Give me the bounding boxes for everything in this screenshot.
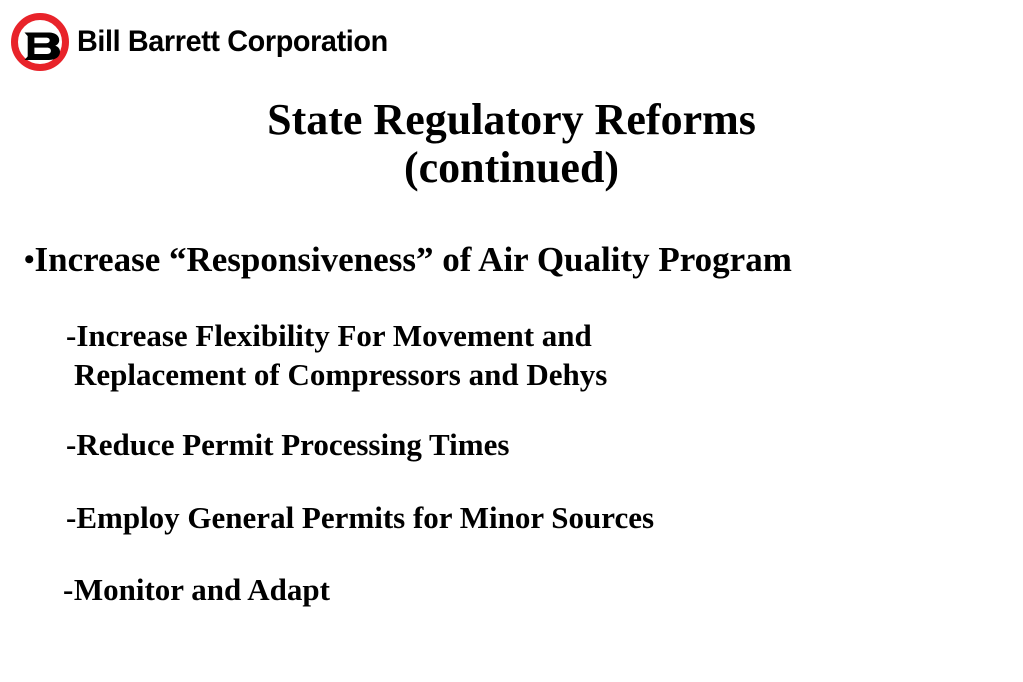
slide-body: •Increase “Responsiveness” of Air Qualit… <box>0 240 1023 609</box>
dash-marker-icon: - <box>63 572 74 607</box>
sub-bullet-list: -Increase Flexibility For Movement andRe… <box>0 317 1023 609</box>
dash-marker-icon: - <box>66 427 76 462</box>
dash-marker-icon: - <box>66 500 76 535</box>
slide-canvas: Bill Barrett Corporation State Regulator… <box>0 0 1023 682</box>
bullet-dot-icon: • <box>24 243 35 276</box>
sub-bullet-item-2: -Reduce Permit Processing Times <box>0 426 1023 464</box>
slide-title-line-2: (continued) <box>0 146 1023 190</box>
bullet-item-primary: •Increase “Responsiveness” of Air Qualit… <box>0 240 1023 279</box>
slide-title: State Regulatory Reforms (continued) <box>0 98 1023 190</box>
dash-marker-icon: - <box>66 318 76 353</box>
sub-bullet-item-1-continuation: Replacement of Compressors and Dehys <box>66 356 1023 394</box>
sub-bullet-item-2-text: Reduce Permit Processing Times <box>76 427 509 462</box>
sub-bullet-item-1: -Increase Flexibility For Movement andRe… <box>0 317 1023 394</box>
sub-bullet-item-3: -Employ General Permits for Minor Source… <box>0 499 1023 537</box>
sub-bullet-item-4-text: Monitor and Adapt <box>74 572 330 607</box>
sub-bullet-item-4: -Monitor and Adapt <box>0 571 1023 609</box>
slide-title-line-1: State Regulatory Reforms <box>0 98 1023 142</box>
company-logo: Bill Barrett Corporation <box>10 10 401 74</box>
company-wordmark: Bill Barrett Corporation <box>77 27 388 57</box>
sub-bullet-item-1-text: Increase Flexibility For Movement and <box>76 318 591 353</box>
bullet-item-primary-text: Increase “Responsiveness” of Air Quality… <box>35 240 792 279</box>
sub-bullet-item-3-text: Employ General Permits for Minor Sources <box>76 500 654 535</box>
bill-barrett-b-monogram-icon <box>10 12 70 72</box>
